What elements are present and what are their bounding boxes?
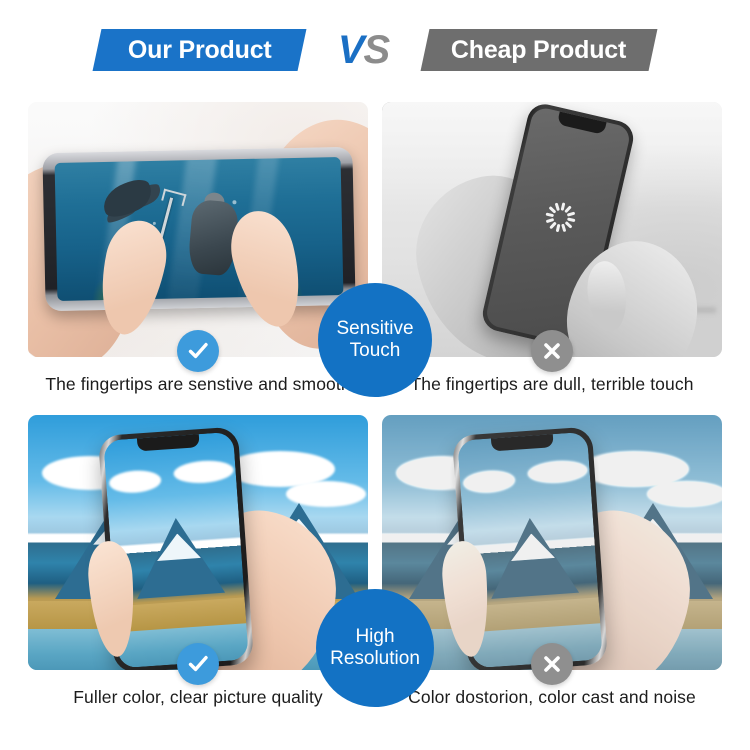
photo-landscape-vivid: [28, 415, 368, 670]
cloud: [173, 459, 234, 485]
bubble: [153, 222, 156, 225]
cell-sensitive-touch-bad: The fingertips are dull, terrible touch: [382, 102, 722, 412]
mountain-peak: [486, 514, 579, 598]
cross-icon: [531, 643, 573, 685]
caption-sensitive-bad: The fingertips are dull, terrible touch: [382, 374, 722, 395]
caption-resolution-bad: Color dostorion, color cast and noise: [382, 687, 722, 708]
vs-letter-v: V: [338, 28, 364, 72]
badge-line-2: Touch: [350, 340, 401, 362]
badge-line-2: Resolution: [330, 648, 420, 670]
cell-high-resolution-good: Fuller color, clear picture quality: [28, 415, 368, 725]
cloud: [108, 469, 161, 495]
bubble: [233, 201, 237, 205]
our-product-label: Our Product: [127, 36, 271, 65]
caption-resolution-good: Fuller color, clear picture quality: [28, 687, 368, 708]
comparison-header: Our Product VS Cheap Product: [0, 0, 750, 100]
cross-icon: [531, 330, 573, 372]
check-icon: [177, 330, 219, 372]
loading-spinner-icon: [542, 199, 578, 235]
cell-high-resolution-bad: Color dostorion, color cast and noise: [382, 415, 722, 725]
photo-game-touch: [28, 102, 368, 357]
badge-high-resolution: High Resolution: [316, 589, 434, 707]
comparison-grid: The fingertips are senstive and smooth: [0, 100, 750, 750]
badge-sensitive-touch: Sensitive Touch: [318, 283, 432, 397]
mountain-peak: [132, 514, 225, 598]
badge-line-1: Sensitive: [336, 318, 413, 340]
badge-line-1: High: [355, 626, 394, 648]
vs-letter-s: S: [364, 28, 390, 72]
cheap-product-banner: Cheap Product: [421, 29, 658, 71]
caption-sensitive-good: The fingertips are senstive and smooth: [28, 374, 368, 395]
cell-sensitive-touch-good: The fingertips are senstive and smooth: [28, 102, 368, 412]
our-product-banner: Our Product: [92, 29, 306, 71]
cloud: [527, 459, 588, 485]
photo-loading-touch: [382, 102, 722, 357]
phone-landscape: [42, 147, 355, 311]
check-icon: [177, 643, 219, 685]
cheap-product-label: Cheap Product: [452, 36, 627, 65]
photo-landscape-washed: [382, 415, 722, 670]
vs-label: VS: [338, 30, 389, 70]
phone-screen-game: [55, 157, 344, 301]
cloud: [462, 469, 515, 495]
